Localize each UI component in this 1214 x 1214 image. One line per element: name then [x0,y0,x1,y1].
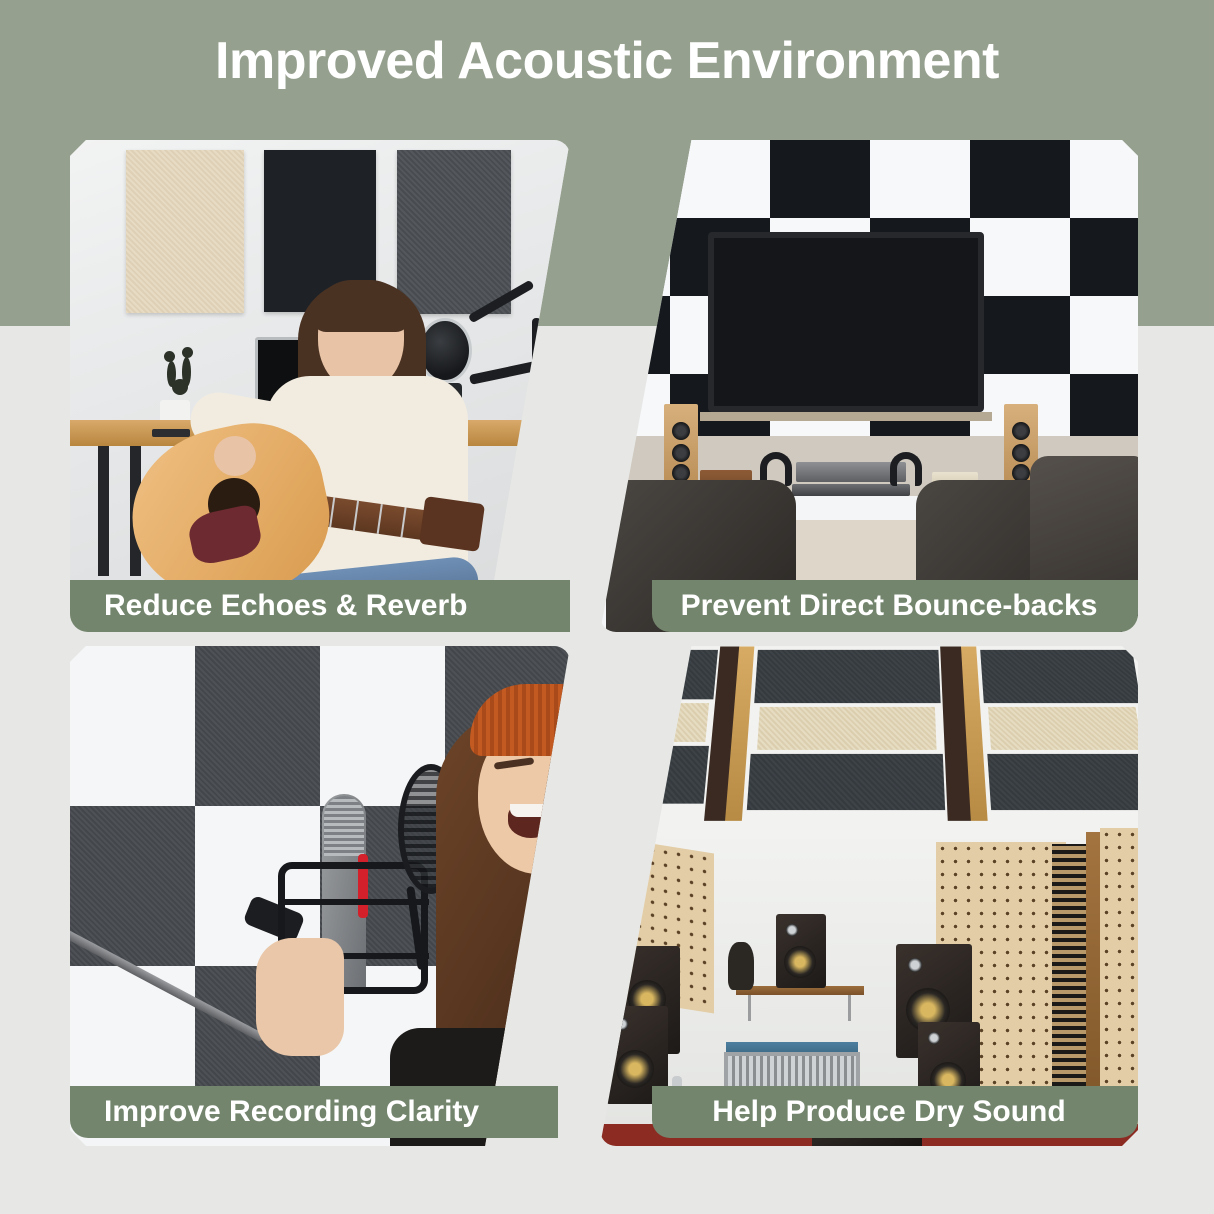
caption-prevent-bounce-backs: Prevent Direct Bounce-backs [652,580,1138,632]
tv-shelf [700,412,992,421]
guitar-headstock [419,496,485,552]
flat-screen-tv [708,232,984,412]
cactus-plant [162,345,196,403]
caption-improve-clarity: Improve Recording Clarity [70,1086,558,1138]
acoustic-panel-gray [397,150,511,314]
caption-reduce-echoes: Reduce Echoes & Reverb [70,580,570,632]
feature-card-reduce-echoes[interactable] [70,140,570,632]
ceiling-acoustic-cloud [600,646,1138,834]
desk-leg [98,446,109,576]
shelf-bracket [848,995,851,1021]
person-hand [214,436,256,476]
smartphone [152,429,190,437]
shelf-bracket [748,995,751,1021]
headphones-right [890,452,922,486]
feature-card-prevent-bounce-backs[interactable] [600,140,1138,632]
perforated-diffuser-far-right [1100,828,1138,1128]
mic-boom-arm [532,318,541,422]
photo-home-theater [600,140,1138,632]
mic-boom-arm [469,355,565,385]
feature-card-dry-sound[interactable] [600,646,1138,1146]
feature-card-improve-clarity[interactable] [70,646,570,1146]
pop-filter [418,318,472,383]
photo-home-studio-guitarist [70,140,570,632]
singer-teeth [510,804,552,817]
studio-monitor-center [776,914,826,988]
acoustic-panel-beige [126,150,244,313]
tower-speaker-left [664,404,698,486]
photo-singer-microphone [70,646,570,1146]
photo-studio-control-room [600,646,1138,1146]
decor-figurine [728,942,754,990]
singer-hand [256,938,344,1056]
person-hair-front [313,280,409,332]
caption-dry-sound: Help Produce Dry Sound [652,1086,1138,1138]
feature-card-grid: Reduce Echoes & Reverb [0,0,1214,1214]
mic-grille [324,796,364,856]
